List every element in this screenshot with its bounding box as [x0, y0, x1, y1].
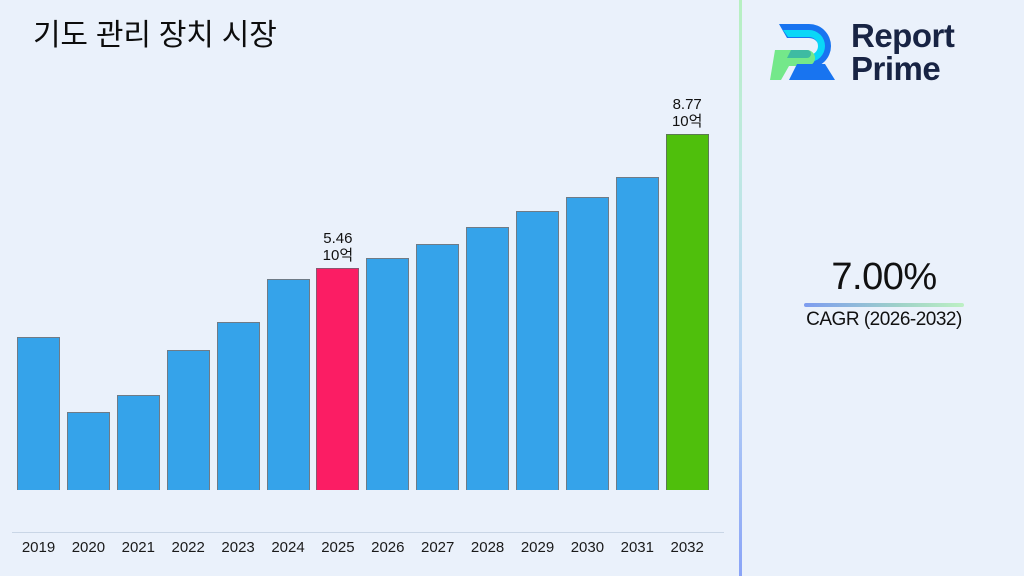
chart-screenshot: 기도 관리 장치 시장 5.4610억8.7710억 2019202020212… [0, 0, 1024, 576]
bar-2022[interactable] [167, 350, 210, 490]
bar-value-number-2025: 5.46 [323, 230, 352, 247]
brand-name-line2: Prime [851, 50, 940, 87]
bar-2024[interactable] [267, 279, 310, 490]
cagr-value: 7.00% [758, 255, 1010, 299]
bar-chart-plot: 5.4610억8.7710억 [0, 0, 740, 533]
cagr-block: 7.00% CAGR (2026-2032) [758, 255, 1010, 331]
x-tick-2027: 2027 [416, 539, 459, 556]
cagr-divider-rule [804, 303, 964, 307]
bar-2029[interactable] [516, 211, 559, 490]
bar-value-number-2032: 8.77 [673, 96, 702, 113]
x-tick-2020: 2020 [67, 539, 110, 556]
x-tick-2029: 2029 [516, 539, 559, 556]
bar-value-unit-2032: 10억 [672, 113, 703, 130]
cagr-caption: CAGR (2026-2032) [758, 309, 1010, 331]
bar-2020[interactable] [67, 412, 110, 490]
x-tick-2023: 2023 [217, 539, 260, 556]
bar-2028[interactable] [466, 227, 509, 490]
x-tick-2032: 2032 [666, 539, 709, 556]
x-tick-2021: 2021 [117, 539, 160, 556]
x-tick-2019: 2019 [17, 539, 60, 556]
x-tick-2026: 2026 [366, 539, 409, 556]
x-tick-2028: 2028 [466, 539, 509, 556]
bar-2021[interactable] [117, 395, 160, 490]
x-tick-2022: 2022 [167, 539, 210, 556]
bar-2019[interactable] [17, 337, 60, 490]
x-tick-2030: 2030 [566, 539, 609, 556]
brand-name-line1: Report [851, 17, 954, 54]
x-tick-2024: 2024 [267, 539, 310, 556]
brand-name: Report Prime [851, 19, 954, 85]
chart-panel: 기도 관리 장치 시장 5.4610억8.7710억 2019202020212… [0, 0, 740, 576]
bar-value-unit-2025: 10억 [323, 247, 354, 264]
bar-2032[interactable] [666, 134, 709, 490]
x-tick-2031: 2031 [616, 539, 659, 556]
bar-2026[interactable] [366, 258, 409, 490]
bar-2027[interactable] [416, 244, 459, 490]
bar-value-label-2032: 8.7710억 [672, 96, 703, 130]
brand-logo: Report Prime [767, 12, 1007, 92]
x-tick-2025: 2025 [316, 539, 359, 556]
axis-baseline [12, 532, 724, 533]
info-panel: Report Prime 7.00% CAGR (2026-2032) [742, 0, 1024, 576]
bar-2023[interactable] [217, 322, 260, 490]
report-prime-logo-icon [767, 16, 841, 88]
bar-2030[interactable] [566, 197, 609, 490]
bar-2025[interactable] [316, 268, 359, 490]
bar-value-label-2025: 5.4610억 [323, 230, 354, 264]
bar-2031[interactable] [616, 177, 659, 490]
